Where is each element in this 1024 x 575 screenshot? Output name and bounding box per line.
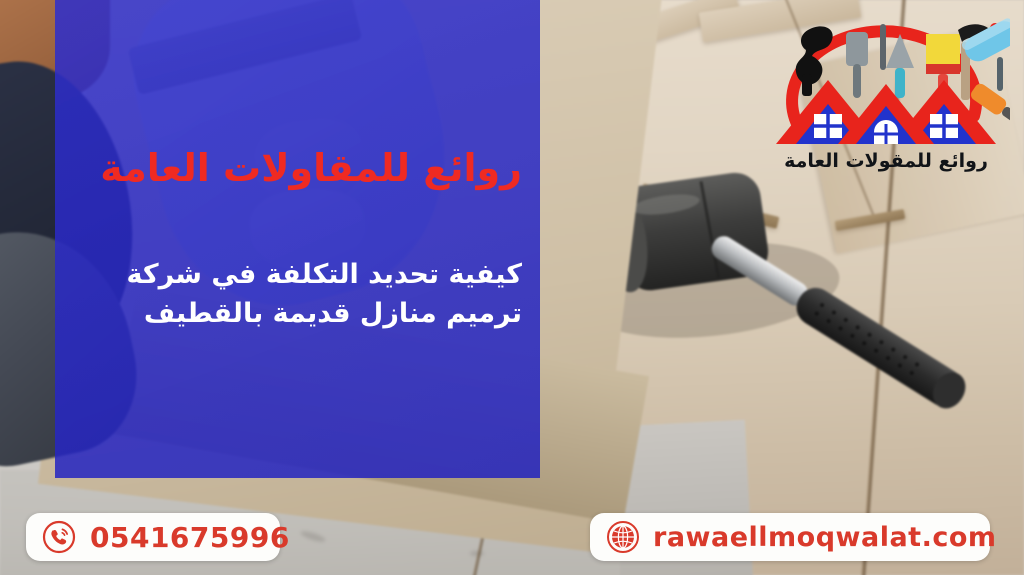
brand-title: روائع للمقاولات العامة bbox=[73, 148, 522, 190]
website-contact-pill[interactable]: rawaellmoqwalat.com bbox=[590, 513, 990, 561]
phone-call-icon bbox=[42, 520, 76, 554]
phone-contact-pill[interactable]: 0541675996 bbox=[26, 513, 280, 561]
three-houses-tools-icon bbox=[762, 8, 1010, 150]
globe-icon bbox=[606, 520, 640, 554]
company-logo: روائع للمقولات العامة bbox=[762, 8, 1010, 186]
phone-number: 0541675996 bbox=[90, 521, 290, 554]
website-url: rawaellmoqwalat.com bbox=[653, 522, 997, 553]
headline-block: روائع للمقاولات العامة كيفية تحديد التكل… bbox=[55, 0, 540, 478]
promo-banner: روائع للمقاولات العامة كيفية تحديد التكل… bbox=[0, 0, 1024, 575]
article-subtitle: كيفية تحديد التكلفة في شركة ترميم منازل … bbox=[73, 255, 522, 333]
logo-wordmark: روائع للمقولات العامة bbox=[762, 150, 1010, 172]
